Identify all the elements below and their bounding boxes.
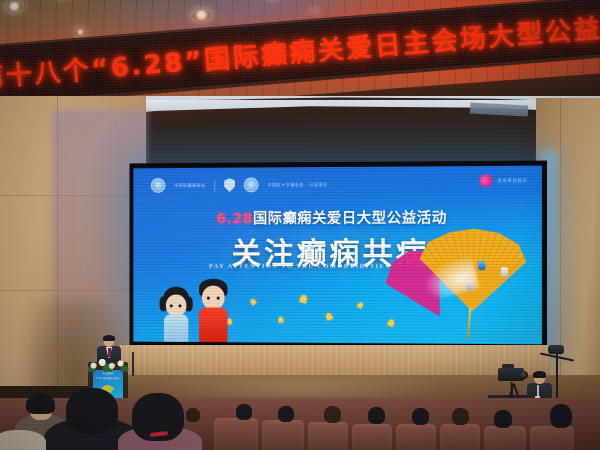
audience-head (236, 404, 252, 420)
screen-logo-right: 主办单位标识 (479, 174, 527, 187)
shield-emblem-icon (224, 178, 235, 192)
microphone-stand (132, 352, 134, 376)
auditorium-seat (352, 424, 392, 450)
cartoon-boy (194, 279, 233, 343)
auditorium-scene: 第十八个“6.28”国际癫痫关爱日主会场大型公益活动 中国抗癫痫协会 中国红十字… (0, 0, 600, 450)
audience-head (494, 410, 512, 428)
auditorium-seat (262, 420, 304, 450)
logo-divider (214, 179, 215, 191)
audience-head (66, 388, 118, 434)
audience-head (452, 408, 469, 425)
auditorium-seat (440, 424, 480, 450)
screen-logos-left: 中国抗癫痫协会 中国红十字基金会 · 公益项目 (151, 177, 328, 193)
ginkgo-leaf-graphic (383, 223, 536, 345)
floating-leaf (357, 301, 365, 309)
ginkgo-figure (466, 281, 473, 290)
auditorium-seat (214, 418, 258, 450)
floating-leaf (299, 294, 308, 304)
ceiling-air-vent (470, 102, 528, 116)
girl-head (166, 294, 186, 316)
ginkgo-figure (501, 267, 508, 276)
podium-panel-line2: 6.28 国际癫痫关爱日 (93, 377, 123, 380)
circle-emblem-icon (244, 177, 259, 192)
studio-light-head (548, 345, 564, 354)
cartoon-children-graphic (155, 273, 253, 343)
boy-eye (207, 297, 209, 300)
pink-circle-emblem-icon (479, 174, 492, 187)
audience-hair (26, 394, 55, 414)
auditorium-seat (396, 424, 436, 450)
main-led-screen: 中国抗癫痫协会 中国红十字基金会 · 公益项目 主办单位标识 6.28国际癫痫关… (129, 161, 547, 349)
circle-emblem-icon (151, 178, 166, 193)
audience-head (412, 408, 429, 425)
stage-front-panel (120, 345, 550, 379)
audience-head (324, 406, 341, 423)
presenter-hair (103, 335, 115, 341)
boy-body (199, 307, 227, 343)
podium-panel-line1: 关爱癫痫 (93, 372, 123, 376)
girl-eye (170, 304, 172, 307)
audience-head (186, 408, 200, 422)
auditorium-seat (308, 422, 348, 450)
ginkgo-stem (467, 307, 471, 339)
operator-hair (533, 371, 546, 378)
auditorium-seat (530, 426, 574, 450)
screen-logo-left-label-2: 中国红十字基金会 · 公益项目 (268, 182, 328, 188)
girl-body (164, 314, 188, 344)
screen-subtitle-number: 6.28 (216, 211, 253, 227)
screen-content: 中国抗癫痫协会 中国红十字基金会 · 公益项目 主办单位标识 6.28国际癫痫关… (133, 166, 542, 345)
audience-head (550, 404, 572, 428)
screen-logo-left-label: 中国抗癫痫协会 (174, 182, 205, 188)
floating-leaf (325, 312, 333, 321)
auditorium-seat (484, 426, 526, 450)
floral-arrangement (84, 356, 132, 372)
screen-logo-right-label: 主办单位标识 (497, 177, 527, 183)
audience-shoulders (0, 430, 46, 450)
girl-eye (179, 304, 181, 307)
ginkgo-figure (478, 261, 485, 270)
audience-head (368, 407, 385, 424)
boy-head (202, 286, 225, 310)
floating-leaf (278, 316, 284, 323)
stage-front-grain (120, 345, 550, 379)
boy-eye (217, 297, 219, 300)
audience-head (278, 406, 294, 422)
cartoon-girl (159, 287, 194, 342)
